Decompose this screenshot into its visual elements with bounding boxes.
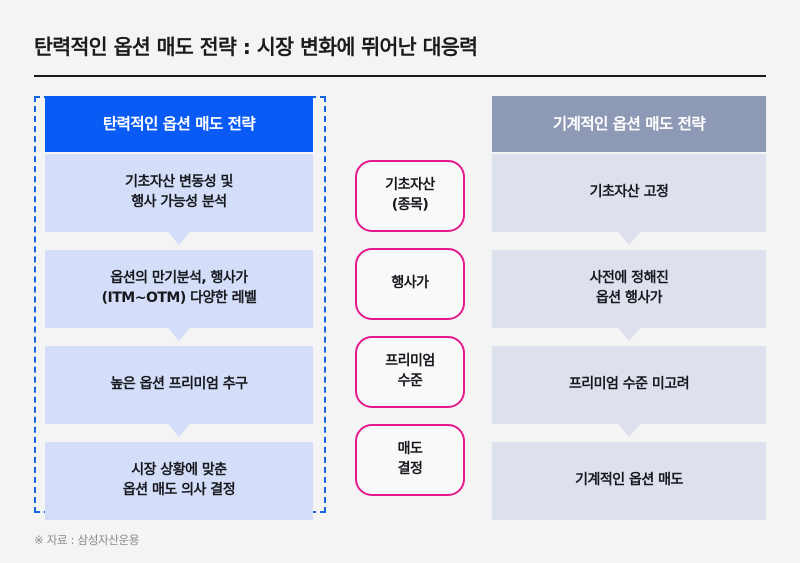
flexible-strategy-header: 탄력적인 옵션 매도 전략 (45, 96, 313, 152)
mechanical-step-2: 사전에 정해진 옵션 행사가 (492, 250, 766, 328)
criterion-premium-level: 프리미엄 수준 (355, 336, 465, 408)
criterion-underlying-asset: 기초자산 (종목) (355, 160, 465, 232)
flexible-step-3: 높은 옵션 프리미엄 추구 (45, 346, 313, 424)
flow-arrow-down-icon-right-3 (618, 424, 640, 437)
flexible-strategy-column: 탄력적인 옵션 매도 전략 기초자산 변동성 및 행사 가능성 분석 옵션의 만… (45, 96, 313, 563)
flow-arrow-down-icon-left-1 (168, 232, 190, 245)
flow-arrow-down-icon-right-1 (618, 232, 640, 245)
mechanical-strategy-header: 기계적인 옵션 매도 전략 (492, 96, 766, 152)
flow-arrow-down-icon-right-2 (618, 328, 640, 341)
comparison-criteria-column: 기초자산 (종목) 행사가 프리미엄 수준 매도 결정 (355, 96, 465, 513)
flexible-step-4: 시장 상황에 맞춘 옵션 매도 의사 결정 (45, 442, 313, 520)
flow-arrow-down-icon-left-2 (168, 328, 190, 341)
title-divider (34, 75, 766, 77)
flow-arrow-down-icon-left-3 (168, 424, 190, 437)
mechanical-step-3: 프리미엄 수준 미고려 (492, 346, 766, 424)
source-note: ※ 자료 : 삼성자산운용 (34, 532, 139, 548)
criterion-sell-decision: 매도 결정 (355, 424, 465, 496)
mechanical-strategy-column: 기계적인 옵션 매도 전략 기초자산 고정 사전에 정해진 옵션 행사가 프리미… (492, 96, 766, 513)
mechanical-step-4: 기계적인 옵션 매도 (492, 442, 766, 520)
flexible-step-1: 기초자산 변동성 및 행사 가능성 분석 (45, 154, 313, 232)
mechanical-step-1: 기초자산 고정 (492, 154, 766, 232)
criterion-strike-price: 행사가 (355, 248, 465, 320)
page-title: 탄력적인 옵션 매도 전략 : 시장 변화에 뛰어난 대응력 (34, 30, 477, 60)
flexible-step-2: 옵션의 만기분석, 행사가 (ITM~OTM) 다양한 레벨 (45, 250, 313, 328)
